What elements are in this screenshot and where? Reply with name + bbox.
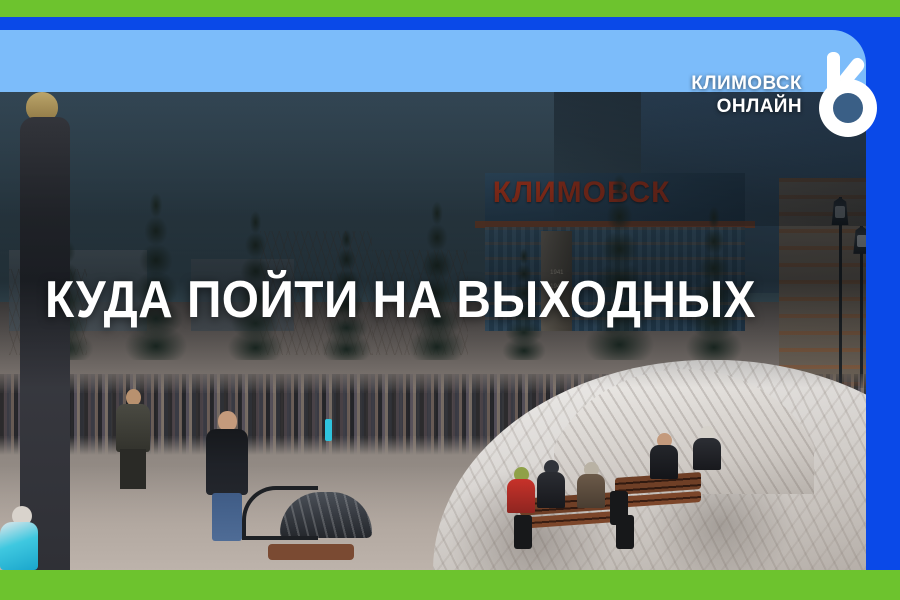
photo-city-square: КЛИМОВСК 1941 1945 (0, 92, 866, 570)
brand-logo-text: КЛИМОВСК ОНЛАЙН (691, 72, 802, 118)
conifer-tree (572, 169, 667, 360)
seated-person (537, 460, 565, 508)
seated-person (576, 462, 606, 508)
child-in-blue-jacket (0, 506, 40, 570)
walking-person (113, 389, 153, 489)
park-bench (615, 475, 701, 503)
background-building-right (779, 178, 866, 388)
banner: КЛИМОВСК 1941 1945 (0, 0, 900, 600)
seated-person (507, 467, 535, 513)
crowd-person-accent (325, 419, 332, 441)
photo-content: КЛИМОВСК 1941 1945 (0, 92, 866, 570)
seated-person (650, 433, 678, 479)
brand-line-1: КЛИМОВСК (691, 72, 802, 95)
brand-logo: КЛИМОВСК ОНЛАЙН (691, 52, 886, 138)
letter-be-logo-icon (812, 52, 886, 138)
seated-person (693, 426, 721, 470)
brand-line-2: ОНЛАЙН (691, 95, 802, 118)
stroller-large (242, 486, 372, 560)
page-title: КУДА ПОЙТИ НА ВЫХОДНЫХ (45, 272, 756, 328)
